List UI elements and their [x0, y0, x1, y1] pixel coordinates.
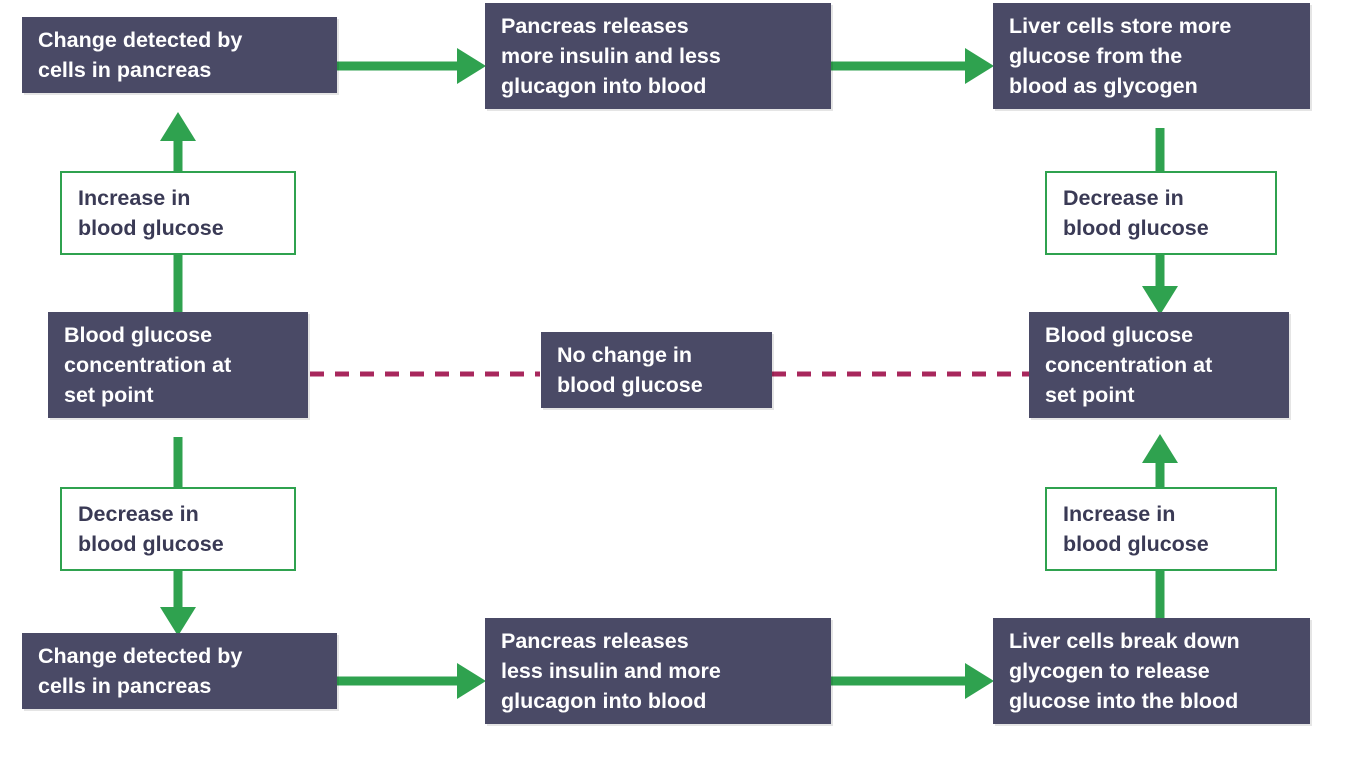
edge-top-middle-to-top-right	[831, 48, 994, 84]
node-top-left: Change detected by cells in pancreas	[22, 17, 337, 93]
node-top-right: Liver cells store more glucose from the …	[993, 3, 1310, 109]
node-top-left-line-1: Change detected by	[38, 25, 323, 55]
label-upper-right: Decrease in blood glucose	[1045, 171, 1277, 255]
label-lower-left-line-2: blood glucose	[78, 529, 280, 559]
edge-top-left-to-top-middle	[337, 48, 486, 84]
node-center-left-line-1: Blood glucose	[64, 320, 294, 350]
label-upper-left-line-1: Increase in	[78, 183, 280, 213]
node-bottom-left-line-1: Change detected by	[38, 641, 323, 671]
node-bottom-middle-line-3: glucagon into blood	[501, 686, 817, 716]
node-top-right-line-3: blood as glycogen	[1009, 71, 1296, 101]
label-upper-left-line-2: blood glucose	[78, 213, 280, 243]
node-no-change-line-2: blood glucose	[557, 370, 758, 400]
node-center-right: Blood glucose concentration at set point	[1029, 312, 1289, 418]
label-lower-right: Increase in blood glucose	[1045, 487, 1277, 571]
node-top-right-line-1: Liver cells store more	[1009, 11, 1296, 41]
node-bottom-middle: Pancreas releases less insulin and more …	[485, 618, 831, 724]
node-no-change-line-1: No change in	[557, 340, 758, 370]
node-center-right-line-3: set point	[1045, 380, 1275, 410]
node-bottom-middle-line-1: Pancreas releases	[501, 626, 817, 656]
node-bottom-right-line-1: Liver cells break down	[1009, 626, 1296, 656]
label-lower-left: Decrease in blood glucose	[60, 487, 296, 571]
node-center-right-line-2: concentration at	[1045, 350, 1275, 380]
node-center-left-line-2: concentration at	[64, 350, 294, 380]
label-lower-right-line-1: Increase in	[1063, 499, 1261, 529]
node-top-middle-line-1: Pancreas releases	[501, 11, 817, 41]
node-top-left-line-2: cells in pancreas	[38, 55, 323, 85]
label-upper-left: Increase in blood glucose	[60, 171, 296, 255]
node-top-middle-line-3: glucagon into blood	[501, 71, 817, 101]
node-bottom-left-line-2: cells in pancreas	[38, 671, 323, 701]
node-center-right-line-1: Blood glucose	[1045, 320, 1275, 350]
node-bottom-middle-line-2: less insulin and more	[501, 656, 817, 686]
label-upper-right-line-1: Decrease in	[1063, 183, 1261, 213]
edge-bottom-middle-to-bottom-right	[831, 663, 994, 699]
node-center-left-line-3: set point	[64, 380, 294, 410]
node-bottom-right-line-2: glycogen to release	[1009, 656, 1296, 686]
label-upper-right-line-2: blood glucose	[1063, 213, 1261, 243]
node-bottom-left: Change detected by cells in pancreas	[22, 633, 337, 709]
node-bottom-right-line-3: glucose into the blood	[1009, 686, 1296, 716]
node-center-left: Blood glucose concentration at set point	[48, 312, 308, 418]
node-top-middle-line-2: more insulin and less	[501, 41, 817, 71]
label-lower-right-line-2: blood glucose	[1063, 529, 1261, 559]
label-lower-left-line-1: Decrease in	[78, 499, 280, 529]
flowchart-canvas: Change detected by cells in pancreas Pan…	[0, 0, 1357, 771]
node-bottom-right: Liver cells break down glycogen to relea…	[993, 618, 1310, 724]
node-top-right-line-2: glucose from the	[1009, 41, 1296, 71]
edge-bottom-left-to-bottom-middle	[337, 663, 486, 699]
node-top-middle: Pancreas releases more insulin and less …	[485, 3, 831, 109]
node-no-change: No change in blood glucose	[541, 332, 772, 408]
